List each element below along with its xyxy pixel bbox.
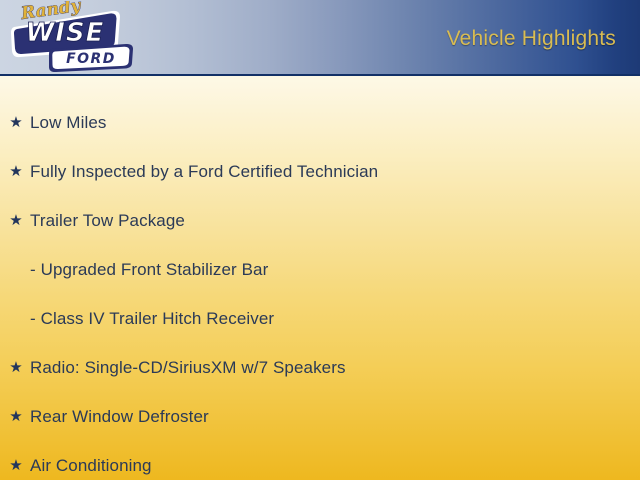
page-title: Vehicle Highlights xyxy=(447,27,616,51)
star-bullet-icon: ★ xyxy=(8,392,24,441)
vehicle-highlights-slide: WISE FORD Randy Vehicle Highlights ★ Low… xyxy=(0,0,640,480)
list-item-label: Low Miles xyxy=(30,98,106,147)
list-item-label: Fully Inspected by a Ford Certified Tech… xyxy=(30,147,378,196)
sub-list-item: - Class IV Trailer Hitch Receiver xyxy=(0,294,640,343)
list-item: ★ Rear Window Defroster xyxy=(0,392,640,441)
svg-text:WISE: WISE xyxy=(26,18,105,48)
list-item: ★ Fully Inspected by a Ford Certified Te… xyxy=(0,147,640,196)
list-item: ★ Trailer Tow Package xyxy=(0,196,640,245)
list-item-label: Trailer Tow Package xyxy=(30,196,185,245)
star-bullet-icon: ★ xyxy=(8,441,24,480)
sub-list-item-label: - Class IV Trailer Hitch Receiver xyxy=(30,294,274,343)
star-bullet-icon: ★ xyxy=(8,343,24,392)
star-bullet-icon: ★ xyxy=(8,98,24,147)
star-bullet-icon: ★ xyxy=(8,147,24,196)
highlights-list: ★ Low Miles ★ Fully Inspected by a Ford … xyxy=(0,76,640,480)
sub-list-item-label: - Upgraded Front Stabilizer Bar xyxy=(30,245,268,294)
header-bar: WISE FORD Randy Vehicle Highlights xyxy=(0,0,640,76)
list-item-label: Rear Window Defroster xyxy=(30,392,209,441)
list-item-label: Radio: Single-CD/SiriusXM w/7 Speakers xyxy=(30,343,346,392)
sub-list-item: - Upgraded Front Stabilizer Bar xyxy=(0,245,640,294)
list-item-label: Air Conditioning xyxy=(30,441,152,480)
list-item: ★ Air Conditioning xyxy=(0,441,640,480)
svg-text:FORD: FORD xyxy=(66,51,116,67)
list-item: ★ Radio: Single-CD/SiriusXM w/7 Speakers xyxy=(0,343,640,392)
randy-wise-ford-logo: WISE FORD Randy xyxy=(8,1,136,75)
star-bullet-icon: ★ xyxy=(8,196,24,245)
list-item: ★ Low Miles xyxy=(0,98,640,147)
